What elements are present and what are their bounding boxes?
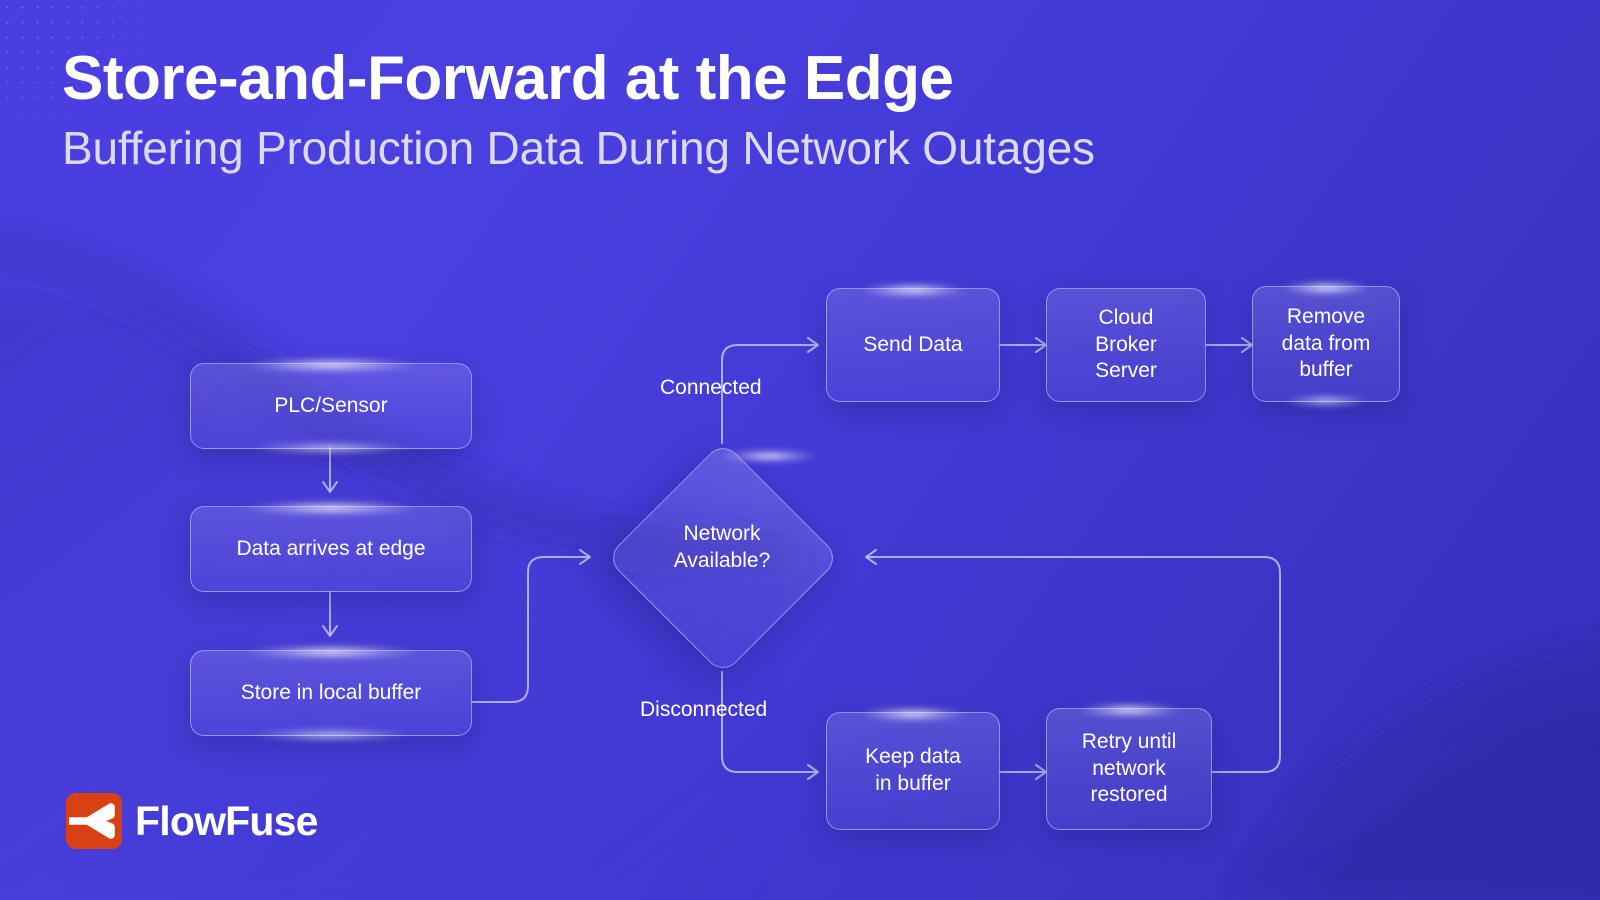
node-store-buffer-label: Store in local buffer <box>241 680 422 707</box>
node-data-arrives-label: Data arrives at edge <box>236 536 425 563</box>
node-send-data-label: Send Data <box>863 332 962 359</box>
node-keep-data[interactable]: Keep data in buffer <box>826 712 1000 830</box>
node-cloud-broker[interactable]: Cloud Broker Server <box>1046 288 1206 402</box>
arrowhead-decision-to-keep <box>808 765 818 779</box>
arrowhead-data-to-store <box>323 626 337 636</box>
node-keep-data-label: Keep data in buffer <box>865 744 961 798</box>
edge-label-connected: Connected <box>660 376 762 400</box>
connector-decision-to-keep <box>722 672 816 772</box>
brand-logo[interactable]: FlowFuse <box>66 793 318 849</box>
node-store-buffer[interactable]: Store in local buffer <box>190 650 472 736</box>
arrowhead-plc-to-data <box>323 482 337 492</box>
node-plc-sensor-label: PLC/Sensor <box>274 393 387 420</box>
arrowhead-store-to-decision <box>580 550 590 564</box>
node-network-available-label: Network Available? <box>622 521 822 575</box>
node-plc-sensor[interactable]: PLC/Sensor <box>190 363 472 449</box>
arrowhead-decision-to-send <box>808 338 818 352</box>
edge-label-disconnected: Disconnected <box>640 698 767 722</box>
page-title: Store-and-Forward at the Edge <box>62 46 1095 113</box>
arrowhead-retry-to-decision <box>866 550 876 564</box>
node-remove-data-label: Remove data from buffer <box>1282 304 1371 385</box>
node-remove-data[interactable]: Remove data from buffer <box>1252 286 1400 402</box>
logo-wordmark: FlowFuse <box>135 798 318 845</box>
infographic-canvas: Store-and-Forward at the Edge Buffering … <box>0 0 1600 900</box>
page-subtitle: Buffering Production Data During Network… <box>62 123 1095 175</box>
arrowhead-broker-to-remove <box>1242 338 1252 352</box>
flowfuse-fork-glyph <box>66 793 122 849</box>
flowfuse-fork-icon <box>66 793 122 849</box>
node-cloud-broker-label: Cloud Broker Server <box>1095 305 1157 386</box>
node-retry-network[interactable]: Retry until network restored <box>1046 708 1212 830</box>
node-send-data[interactable]: Send Data <box>826 288 1000 402</box>
node-retry-network-label: Retry until network restored <box>1082 729 1177 810</box>
node-data-arrives[interactable]: Data arrives at edge <box>190 506 472 592</box>
header: Store-and-Forward at the Edge Buffering … <box>62 46 1095 174</box>
arrowhead-keep-to-retry <box>1036 765 1046 779</box>
connector-store-to-decision <box>472 557 588 702</box>
arrowhead-send-to-broker <box>1036 338 1046 352</box>
